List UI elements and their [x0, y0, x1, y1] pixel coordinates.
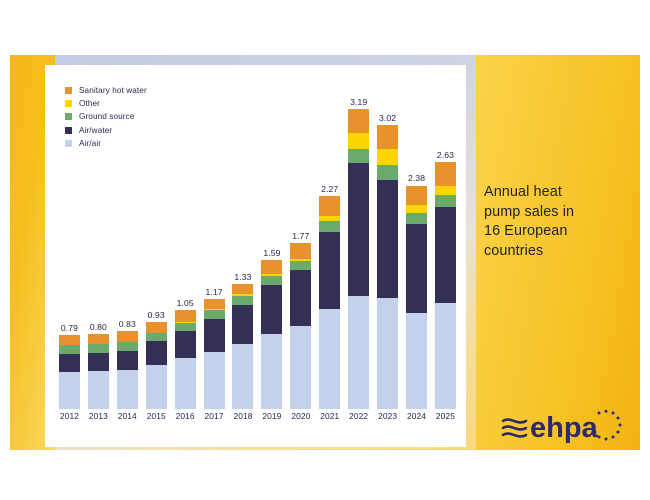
bar-segment	[377, 125, 398, 148]
x-tick-2022: 2022	[344, 411, 373, 421]
title-line-4: countries	[484, 242, 624, 262]
bar-stack	[146, 322, 167, 409]
x-tick-2019: 2019	[257, 411, 286, 421]
bar-segment	[406, 186, 427, 206]
bar-segment	[377, 165, 398, 180]
bar-value-label: 3.02	[379, 114, 396, 123]
bar-segment	[59, 372, 80, 409]
bar-segment	[232, 296, 253, 304]
bar-stack	[232, 284, 253, 409]
bar-value-label: 1.77	[292, 232, 309, 241]
bar-column-2022[interactable]: 3.19	[344, 85, 373, 409]
bar-segment	[435, 195, 456, 207]
bar-segment	[406, 224, 427, 313]
x-tick-2012: 2012	[55, 411, 84, 421]
bar-stack	[204, 299, 225, 409]
ehpa-logo: ehpa	[500, 408, 625, 448]
bar-segment	[319, 232, 340, 309]
bar-column-2023[interactable]: 3.02	[373, 85, 402, 409]
bar-segment	[261, 334, 282, 409]
bar-column-2019[interactable]: 1.59	[257, 85, 286, 409]
bar-segment	[435, 162, 456, 186]
bar-value-label: 2.38	[408, 174, 425, 183]
bar-segment	[175, 323, 196, 331]
bar-segment	[117, 370, 138, 408]
bar-column-2021[interactable]: 2.27	[315, 85, 344, 409]
x-tick-2020: 2020	[286, 411, 315, 421]
bar-column-2020[interactable]: 1.77	[286, 85, 315, 409]
x-tick-2016: 2016	[171, 411, 200, 421]
x-tick-2014: 2014	[113, 411, 142, 421]
bar-column-2016[interactable]: 1.05	[171, 85, 200, 409]
chart-plot-area: 0.790.800.830.931.051.171.331.591.772.27…	[55, 85, 460, 439]
bar-segment	[146, 333, 167, 341]
bar-segment	[348, 133, 369, 149]
bar-segment	[146, 322, 167, 333]
bar-value-label: 1.17	[206, 288, 223, 297]
bar-column-2024[interactable]: 2.38	[402, 85, 431, 409]
bar-segment	[261, 276, 282, 285]
bar-segment	[261, 285, 282, 334]
bar-segment	[377, 149, 398, 165]
bar-stack	[348, 109, 369, 409]
bar-value-label: 0.80	[90, 323, 107, 332]
bar-column-2015[interactable]: 0.93	[142, 85, 171, 409]
bar-segment	[319, 309, 340, 409]
bar-column-2014[interactable]: 0.83	[113, 85, 142, 409]
bar-segment	[348, 149, 369, 163]
bar-column-2025[interactable]: 2.63	[431, 85, 460, 409]
bar-segment	[377, 180, 398, 298]
bar-segment	[406, 213, 427, 224]
bar-segment	[232, 344, 253, 409]
bar-segment	[59, 335, 80, 345]
bar-segment	[435, 303, 456, 409]
bar-segment	[175, 310, 196, 321]
bar-segment	[348, 109, 369, 132]
bar-value-label: 2.27	[321, 185, 338, 194]
bar-stack	[435, 162, 456, 409]
bar-segment	[146, 365, 167, 409]
bar-segment	[435, 207, 456, 303]
bar-segment	[204, 319, 225, 352]
bar-segment	[290, 326, 311, 409]
chart-card: Sanitary hot waterOtherGround sourceAir/…	[45, 65, 466, 447]
x-tick-2025: 2025	[431, 411, 460, 421]
bar-value-label: 1.59	[263, 249, 280, 258]
bar-group: 0.790.800.830.931.051.171.331.591.772.27…	[55, 85, 460, 409]
bar-value-label: 0.79	[61, 324, 78, 333]
bar-stack	[290, 243, 311, 409]
title-line-2: pump sales in	[484, 203, 624, 223]
bar-segment	[175, 331, 196, 358]
ehpa-wordmark: ehpa	[530, 412, 599, 444]
bar-segment	[319, 221, 340, 232]
bar-segment	[290, 261, 311, 270]
eu-stars-icon	[594, 410, 622, 441]
bar-value-label: 1.33	[234, 273, 251, 282]
bar-segment	[377, 298, 398, 409]
bar-segment	[204, 299, 225, 308]
wave-icon	[503, 420, 526, 437]
bar-segment	[146, 341, 167, 364]
bar-segment	[117, 351, 138, 371]
bar-segment	[88, 344, 109, 352]
slide-canvas: Sanitary hot waterOtherGround sourceAir/…	[0, 0, 650, 500]
bar-segment	[88, 353, 109, 372]
bar-segment	[59, 345, 80, 353]
bar-value-label: 2.63	[437, 151, 454, 160]
bar-segment	[290, 243, 311, 259]
bar-segment	[175, 358, 196, 409]
bar-segment	[88, 334, 109, 344]
bar-stack	[406, 186, 427, 410]
x-tick-2018: 2018	[229, 411, 258, 421]
bar-value-label: 0.83	[119, 320, 136, 329]
x-tick-2015: 2015	[142, 411, 171, 421]
bar-segment	[435, 186, 456, 194]
bar-stack	[261, 260, 282, 409]
bar-segment	[117, 331, 138, 342]
bar-segment	[204, 310, 225, 318]
bar-segment	[232, 305, 253, 344]
bar-segment	[204, 352, 225, 409]
bar-segment	[348, 163, 369, 296]
bar-value-label: 3.19	[350, 98, 367, 107]
ehpa-logo-svg: ehpa	[500, 408, 625, 448]
bar-segment	[348, 296, 369, 409]
title-line-1: Annual heat	[484, 183, 624, 203]
bar-column-2013[interactable]: 0.80	[84, 85, 113, 409]
x-tick-2017: 2017	[200, 411, 229, 421]
x-tick-2024: 2024	[402, 411, 431, 421]
x-tick-2013: 2013	[84, 411, 113, 421]
bar-value-label: 0.93	[148, 311, 165, 320]
bar-segment	[88, 371, 109, 409]
bar-segment	[59, 354, 80, 373]
bar-stack	[117, 331, 138, 409]
bar-segment	[117, 342, 138, 350]
bar-stack	[88, 334, 109, 409]
bar-value-label: 1.05	[177, 299, 194, 308]
bar-column-2018[interactable]: 1.33	[229, 85, 258, 409]
x-tick-2021: 2021	[315, 411, 344, 421]
bar-segment	[232, 284, 253, 294]
bar-column-2017[interactable]: 1.17	[200, 85, 229, 409]
bar-segment	[319, 196, 340, 216]
bar-segment	[406, 205, 427, 213]
title-line-3: 16 European	[484, 222, 624, 242]
bar-segment	[290, 270, 311, 326]
bar-stack	[319, 196, 340, 409]
bar-column-2012[interactable]: 0.79	[55, 85, 84, 409]
bar-stack	[377, 125, 398, 409]
bar-segment	[406, 313, 427, 409]
page-title: Annual heat pump sales in 16 European co…	[484, 183, 624, 261]
x-axis-tick-labels: 2012201320142015201620172018201920202021…	[55, 411, 460, 435]
bar-segment	[261, 260, 282, 274]
bar-stack	[175, 310, 196, 409]
x-tick-2023: 2023	[373, 411, 402, 421]
bar-stack	[59, 335, 80, 409]
